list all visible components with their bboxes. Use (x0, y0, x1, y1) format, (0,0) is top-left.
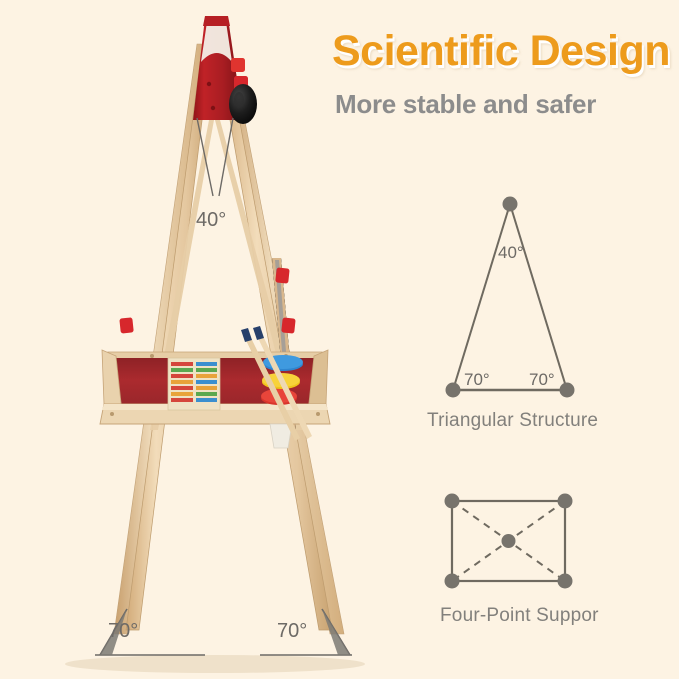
photo-angle-label-bottom-left: 70° (108, 620, 138, 643)
infographic-canvas: Scientific Design More stable and safer … (0, 0, 679, 679)
page-subtitle: More stable and safer (335, 89, 596, 120)
triangular-structure-caption: Triangular Structure (427, 410, 598, 432)
triangle-diagram (446, 197, 575, 398)
photo-angle-label-bottom-right: 70° (277, 620, 307, 643)
page-title: Scientific Design (332, 27, 670, 76)
diagram-angle-label-base-right: 70° (529, 370, 555, 390)
diagram-angle-label-base-left: 70° (464, 370, 490, 390)
diagram-angle-label-apex: 40° (498, 243, 524, 263)
four-point-support-caption: Four-Point Suppor (440, 605, 599, 627)
photo-angle-label-apex: 40° (196, 209, 226, 232)
four-point-support-diagram (445, 494, 573, 589)
